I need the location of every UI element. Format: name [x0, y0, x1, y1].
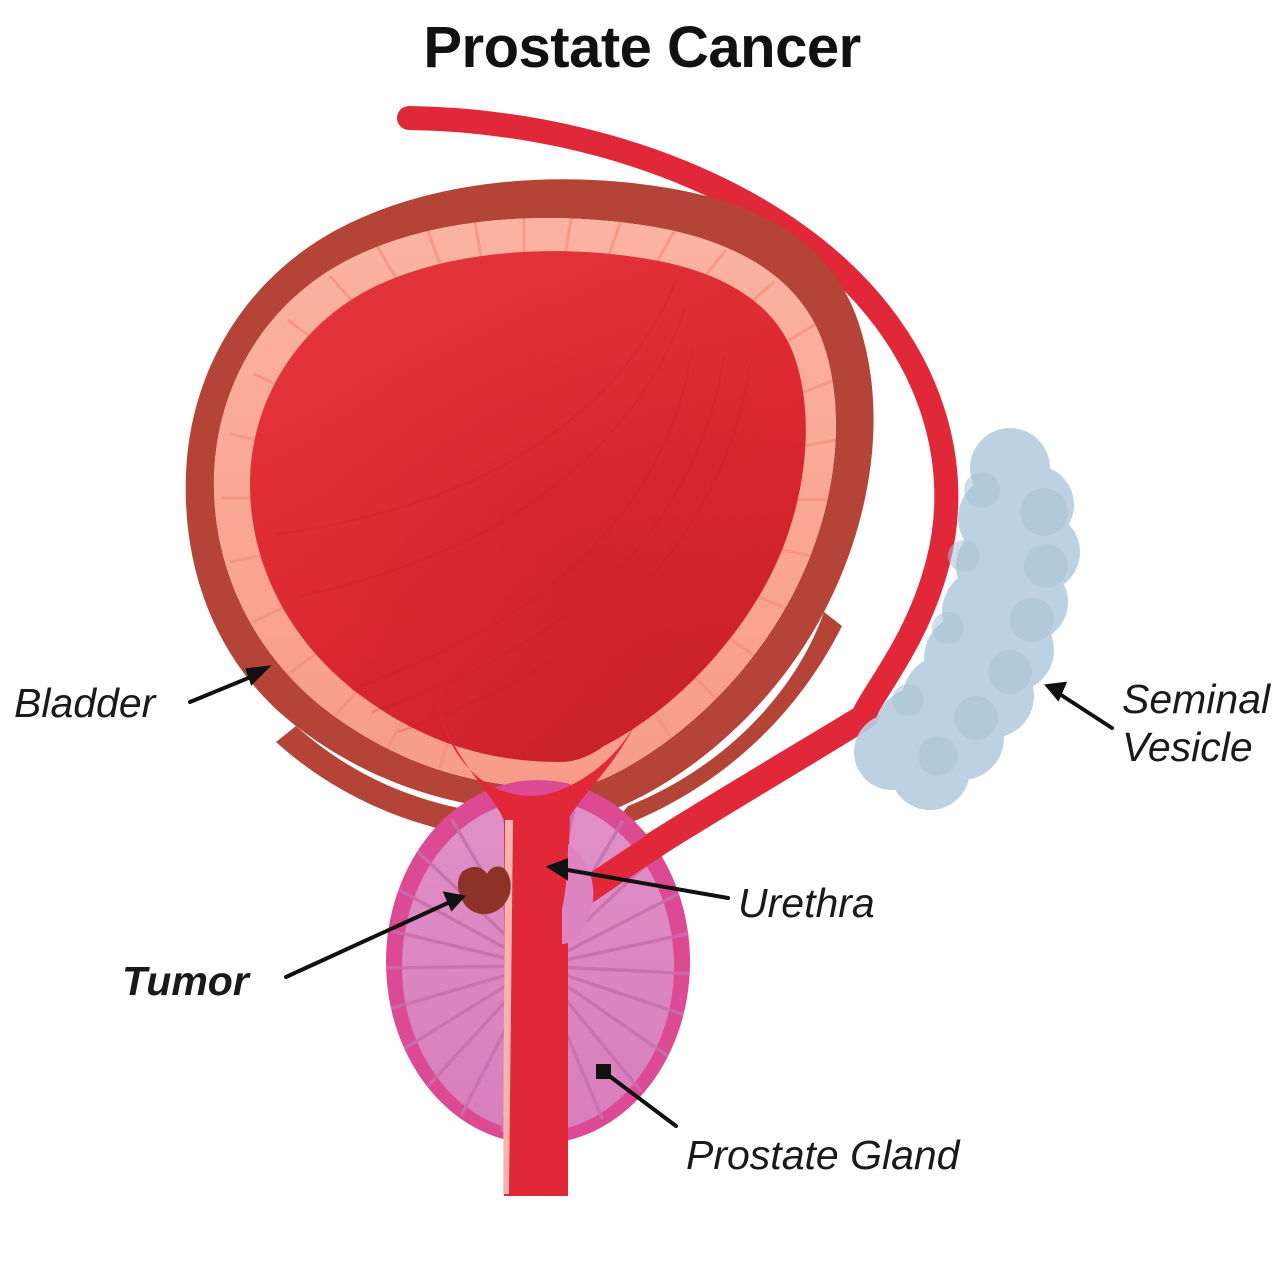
label-tumor: Tumor: [122, 958, 249, 1006]
prostate-anatomy-illustration: [0, 0, 1284, 1284]
label-urethra: Urethra: [738, 880, 875, 928]
label-prostate-gland: Prostate Gland: [686, 1132, 960, 1180]
label-seminal-vesicle: Seminal Vesicle: [1122, 676, 1270, 771]
bladder-structure: [186, 179, 874, 840]
label-bladder: Bladder: [14, 680, 155, 728]
leader-seminal-vesicle: [1048, 684, 1112, 728]
diagram-canvas: Prostate Cancer: [0, 0, 1284, 1284]
seminal-vesicle-structure: [854, 428, 1080, 810]
